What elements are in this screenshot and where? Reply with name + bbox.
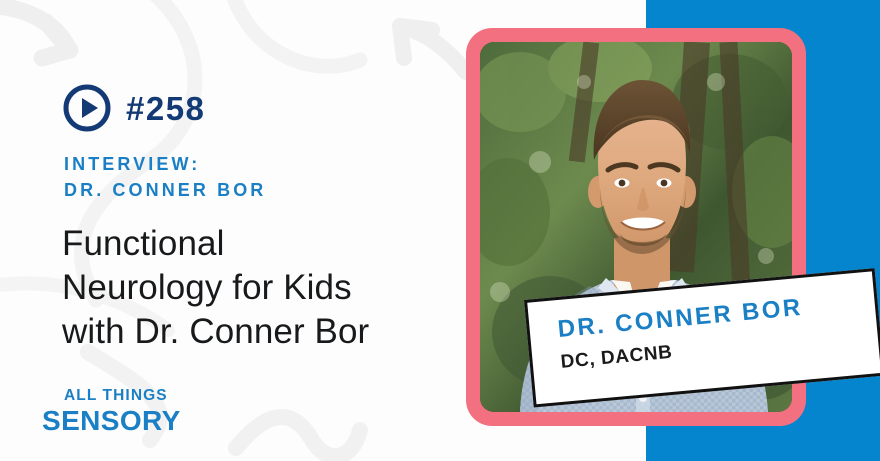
episode-number: #258 <box>126 92 205 125</box>
left-content-column: #258 INTERVIEW: DR. CONNER BOR Functiona… <box>0 0 466 461</box>
podcast-logo-line1: ALL THINGS <box>64 388 181 404</box>
guest-name: DR. CONNER BOR <box>557 294 804 344</box>
guest-credentials: DC, DACNB <box>560 342 674 374</box>
podcast-logo: ALL THINGS SENSORY <box>42 388 181 435</box>
episode-kicker: INTERVIEW: DR. CONNER BOR <box>64 152 266 203</box>
episode-row: #258 <box>62 83 205 133</box>
episode-title: Functional Neurology for Kids with Dr. C… <box>62 222 462 354</box>
podcast-logo-line2: SENSORY <box>42 406 181 435</box>
episode-graphic-canvas: #258 INTERVIEW: DR. CONNER BOR Functiona… <box>0 0 880 461</box>
play-circle-icon <box>62 83 112 133</box>
